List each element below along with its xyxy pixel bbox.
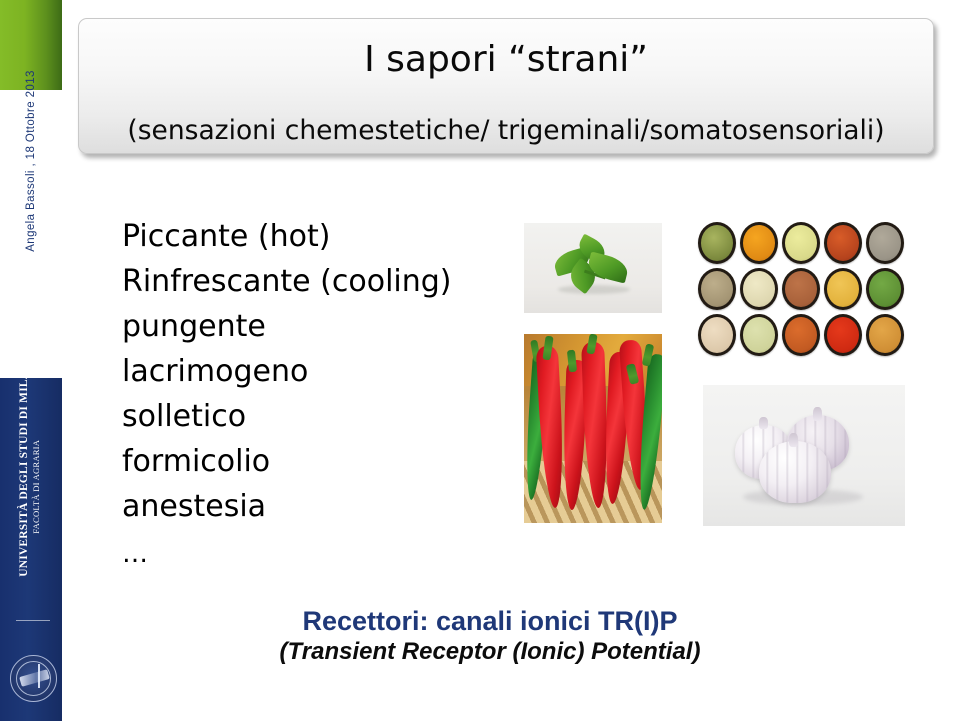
spice-bowl xyxy=(866,268,904,310)
spice-bowl xyxy=(782,268,820,310)
receptor-caption: Recettori: canali ionici TR(I)P (Transie… xyxy=(110,605,870,667)
slide-subtitle: (sensazioni chemestetiche/ trigeminali/s… xyxy=(79,117,933,145)
list-item: pungente xyxy=(122,304,522,349)
slide-title: I sapori “strani” xyxy=(79,42,933,78)
spice-bowl xyxy=(698,222,736,264)
list-item: … xyxy=(122,529,522,575)
spice-bowl xyxy=(782,314,820,356)
list-item: Rinfrescante (cooling) xyxy=(122,259,522,304)
spice-bowl xyxy=(824,314,862,356)
caption-primary-line: Recettori: canali ionici TR(I)P xyxy=(110,605,870,638)
sidebar-divider xyxy=(62,0,64,721)
garlic-bulb xyxy=(759,441,831,503)
list-item: solletico xyxy=(122,394,522,439)
red-chili-peppers-photo xyxy=(524,334,662,523)
seal-emblem-mast xyxy=(38,664,40,688)
university-branding: UNIVERSITÀ DEGLI STUDI DI MILANO FACOLTÀ… xyxy=(18,397,42,577)
title-plaque: I sapori “strani” (sensazioni chemesteti… xyxy=(78,18,934,154)
spice-bowls-photo xyxy=(684,206,918,372)
spice-bowl xyxy=(866,222,904,264)
spice-bowl xyxy=(698,268,736,310)
garlic-ribs xyxy=(759,441,831,503)
list-item: Piccante (hot) xyxy=(122,214,522,259)
list-item: lacrimogeno xyxy=(122,349,522,394)
garlic-neck xyxy=(789,433,798,447)
mint-leaves-photo xyxy=(524,223,662,313)
author-date-label: Angela Bassoli , 18 Ottobre 2013 xyxy=(25,26,37,296)
faculty-name-label: FACOLTÀ DI AGRARIA xyxy=(31,397,41,577)
garlic-neck xyxy=(813,407,822,421)
sensations-list: Piccante (hot) Rinfrescante (cooling) pu… xyxy=(122,214,522,575)
university-name-label: UNIVERSITÀ DEGLI STUDI DI MILANO xyxy=(18,397,31,577)
garlic-neck xyxy=(759,417,768,429)
list-item: formicolio xyxy=(122,439,522,484)
garlic-bulbs-photo xyxy=(703,385,905,526)
presentation-slide: Angela Bassoli , 18 Ottobre 2013 UNIVERS… xyxy=(0,0,961,721)
caption-secondary-line: (Transient Receptor (Ionic) Potential) xyxy=(110,638,870,667)
spice-bowl xyxy=(698,314,736,356)
spice-bowl-grid xyxy=(698,222,904,356)
spice-bowl xyxy=(740,314,778,356)
spice-bowl xyxy=(782,222,820,264)
spice-bowl xyxy=(740,222,778,264)
spice-bowl xyxy=(740,268,778,310)
list-item: anestesia xyxy=(122,484,522,529)
sidebar-rule xyxy=(16,620,50,621)
spice-bowl xyxy=(866,314,904,356)
mint-shadow xyxy=(558,285,630,294)
spice-bowl xyxy=(824,268,862,310)
spice-bowl xyxy=(824,222,862,264)
university-seal-icon xyxy=(10,655,57,702)
